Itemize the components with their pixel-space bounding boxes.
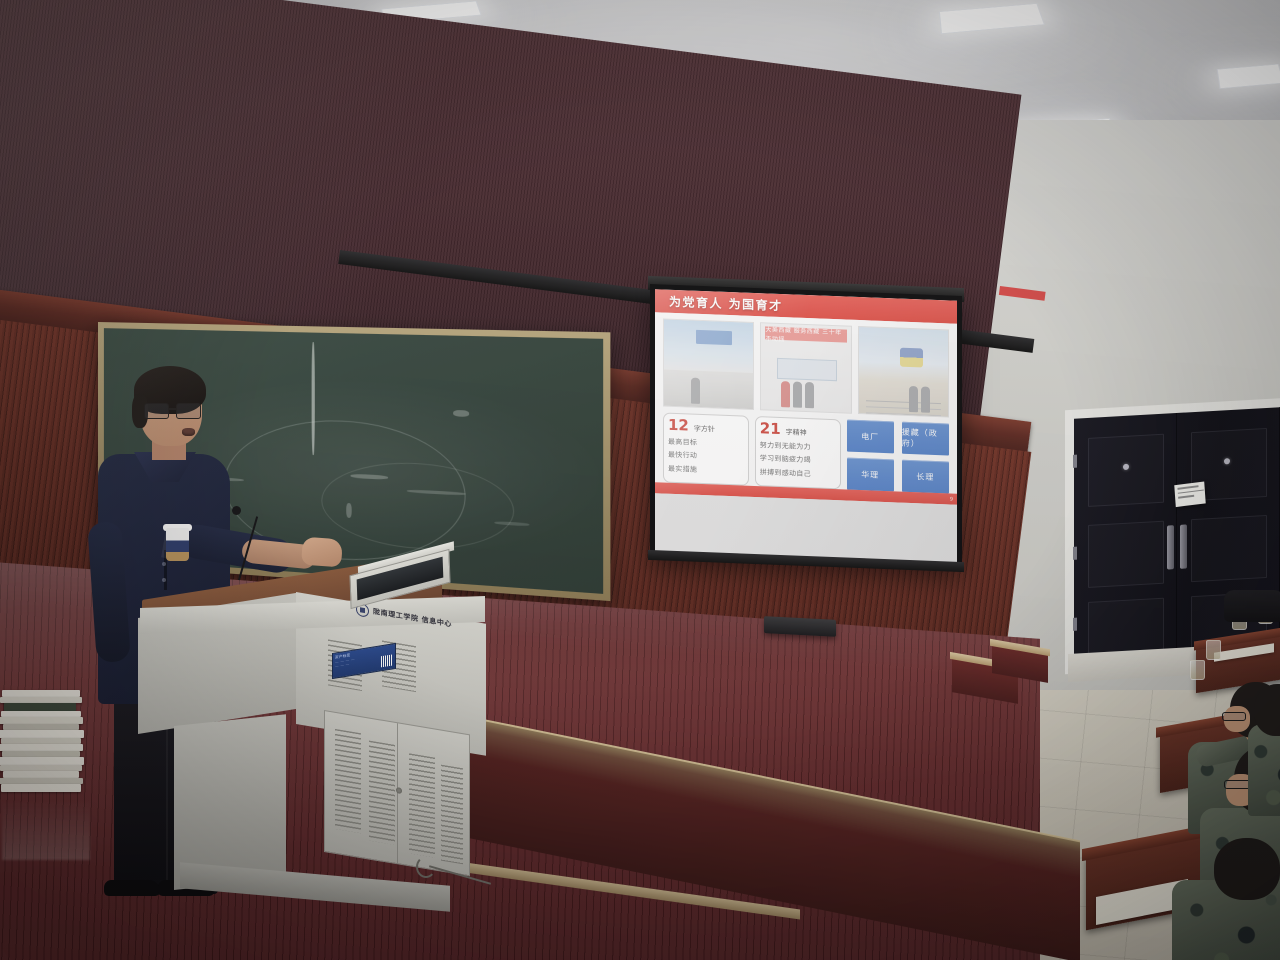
microphone-head-icon <box>232 506 241 515</box>
slide-photo-3 <box>858 326 949 418</box>
tea-glass <box>1206 640 1221 660</box>
kpi-1-line-1: 最高目标 <box>668 436 744 449</box>
backpack <box>1224 590 1280 622</box>
slide-body: 大美西藏 服务西藏 三十年不动摇 <box>655 312 957 494</box>
slide-button-4: 长理 <box>902 460 949 494</box>
student-head <box>1214 838 1280 900</box>
slide-button-2: 援藏（政府） <box>902 422 949 456</box>
slide-kpi-card-2: 21 字精神 努力到无能为力 学习到脑疲力竭 拼搏到感动自己 <box>755 416 841 489</box>
slide-photo-2: 大美西藏 服务西藏 三十年不动摇 <box>760 322 851 414</box>
projection-screen: 为党育人 为国育才 大美西藏 服务西藏 三十年不动摇 <box>650 284 962 568</box>
slide-page-number: 9 <box>950 496 953 502</box>
lectern-cabinet[interactable] <box>324 710 470 876</box>
kpi-1-unit: 字方针 <box>694 424 715 435</box>
multimedia-lectern[interactable]: 陇南理工学院 信息中心 资产标签 — — — — — — — <box>128 556 506 924</box>
book-stacks <box>0 690 94 802</box>
kpi-1-number: 12 <box>668 418 689 434</box>
lectern-base <box>180 862 450 912</box>
slide-photo-row: 大美西藏 服务西藏 三十年不动摇 <box>663 319 949 418</box>
door-notice-paper <box>1174 482 1205 508</box>
student-front <box>1172 862 1280 960</box>
slide-lower-row: 12 字方针 最高目标 最快行动 最实措施 21 字精神 <box>663 413 949 494</box>
screen-surface: 为党育人 为国育才 大美西藏 服务西藏 三十年不动摇 <box>655 289 957 563</box>
slide-button-1: 电厂 <box>847 420 894 454</box>
kpi-2-line-3: 拼搏到感动自己 <box>760 467 836 480</box>
slide-button-grid: 电厂 援藏（政府） 华理 长理 <box>847 420 949 494</box>
student-uniform <box>1248 724 1280 816</box>
slide-kpi-card-1: 12 字方针 最高目标 最快行动 最实措施 <box>663 413 749 486</box>
lecture-hall-photo: 为党育人 为国育才 大美西藏 服务西藏 三十年不动摇 <box>0 0 1280 960</box>
presentation-slide: 为党育人 为国育才 大美西藏 服务西藏 三十年不动摇 <box>655 289 957 563</box>
kpi-2-number: 21 <box>760 421 781 437</box>
kpi-2-unit: 字精神 <box>786 427 807 438</box>
slide-button-3: 华理 <box>847 458 894 492</box>
door-leaf-right[interactable] <box>1177 407 1280 668</box>
door-leaf-left[interactable] <box>1074 413 1177 674</box>
kpi-2-line-1: 努力到无能为力 <box>760 440 836 453</box>
slide-photo-1 <box>663 319 754 411</box>
student-far-right <box>1248 690 1280 810</box>
book-stack-reflection <box>2 800 90 860</box>
kpi-1-line-3: 最实措施 <box>668 463 744 476</box>
kpi-2-line-2: 学习到脑疲力竭 <box>760 453 836 466</box>
student-eyeglasses-icon <box>1222 712 1246 721</box>
tea-glass <box>1190 660 1205 680</box>
coffee-cup[interactable] <box>166 528 189 561</box>
kpi-1-line-2: 最快行动 <box>668 450 744 463</box>
qr-code-icon <box>381 655 392 668</box>
presenter-mouth <box>182 428 195 436</box>
eyeglasses-icon <box>144 403 202 417</box>
slide-title: 为党育人 为国育才 <box>669 293 783 314</box>
